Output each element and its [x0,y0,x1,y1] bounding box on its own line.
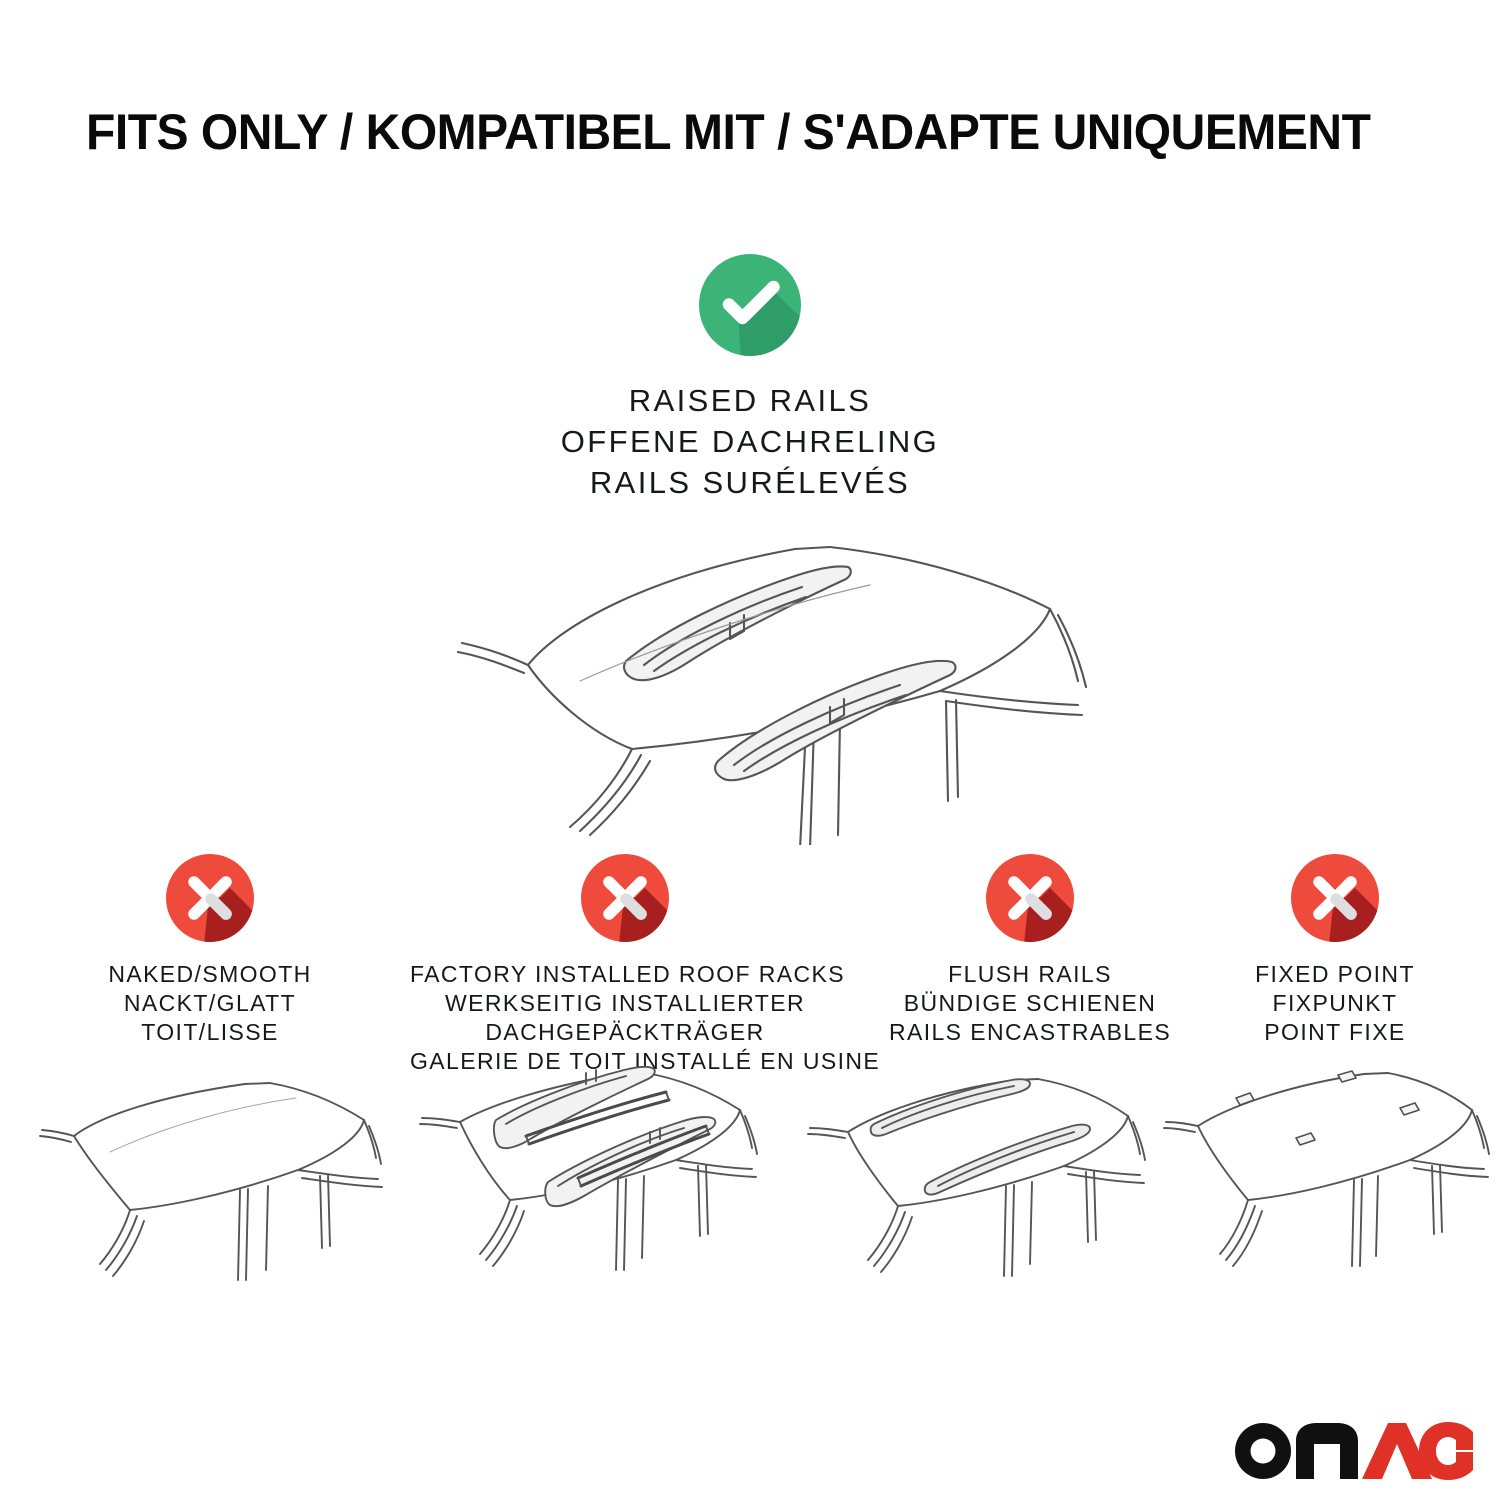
reject-line3: TOIT/LISSE [60,1018,360,1047]
page-title: FITS ONLY / KOMPATIBEL MIT / S'ADAPTE UN… [86,104,1372,160]
x-circle-icon [1289,852,1381,944]
reject-line1: FIXED POINT [1205,960,1465,989]
car-roof-factory-racks-illustration [400,1058,780,1328]
car-roof-fixed-point-illustration [1150,1058,1500,1328]
reject-line3: POINT FIXE [1205,1018,1465,1047]
rejected-label-flush-rails: FLUSH RAILS BÜNDIGE SCHIENEN RAILS ENCAS… [870,960,1190,1047]
approved-section: RAISED RAILS OFFENE DACHRELING RAILS SUR… [0,252,1500,503]
rejected-item-factory-racks: FACTORY INSTALLED ROOF RACKS WERKSEITIG … [410,852,840,1076]
x-circle-icon [579,852,671,944]
rejected-item-flush-rails: FLUSH RAILS BÜNDIGE SCHIENEN RAILS ENCAS… [870,852,1190,1047]
rejected-item-fixed-point: FIXED POINT FIXPUNKT POINT FIXE [1205,852,1465,1047]
rejected-label-naked-smooth: NAKED/SMOOTH NACKT/GLATT TOIT/LISSE [60,960,360,1047]
car-roof-flush-rails-illustration [790,1058,1170,1328]
approved-label: RAISED RAILS OFFENE DACHRELING RAILS SUR… [0,380,1500,503]
reject-line1: FACTORY INSTALLED ROOF RACKS [410,960,840,989]
omac-logo [1232,1408,1474,1480]
x-circle-icon [164,852,256,944]
car-roof-raised-rails-illustration [400,505,1120,845]
x-circle-icon [984,852,1076,944]
approved-label-line2: OFFENE DACHRELING [0,421,1500,462]
approved-label-line3: RAILS SURÉLEVÉS [0,462,1500,503]
rejected-label-fixed-point: FIXED POINT FIXPUNKT POINT FIXE [1205,960,1465,1047]
reject-line2: FIXPUNKT [1205,989,1465,1018]
reject-line2: BÜNDIGE SCHIENEN [870,989,1190,1018]
reject-line3: RAILS ENCASTRABLES [870,1018,1190,1047]
reject-line2: NACKT/GLATT [60,989,360,1018]
reject-line2: WERKSEITIG INSTALLIERTER [410,989,840,1018]
rejected-item-naked-smooth: NAKED/SMOOTH NACKT/GLATT TOIT/LISSE [60,852,360,1047]
reject-line1: NAKED/SMOOTH [60,960,360,989]
approved-label-line1: RAISED RAILS [0,380,1500,421]
car-roof-naked-smooth-illustration [30,1058,410,1328]
check-circle-icon [697,252,803,358]
reject-line1: FLUSH RAILS [870,960,1190,989]
reject-line3: DACHGEPÄCKTRÄGER [410,1018,840,1047]
